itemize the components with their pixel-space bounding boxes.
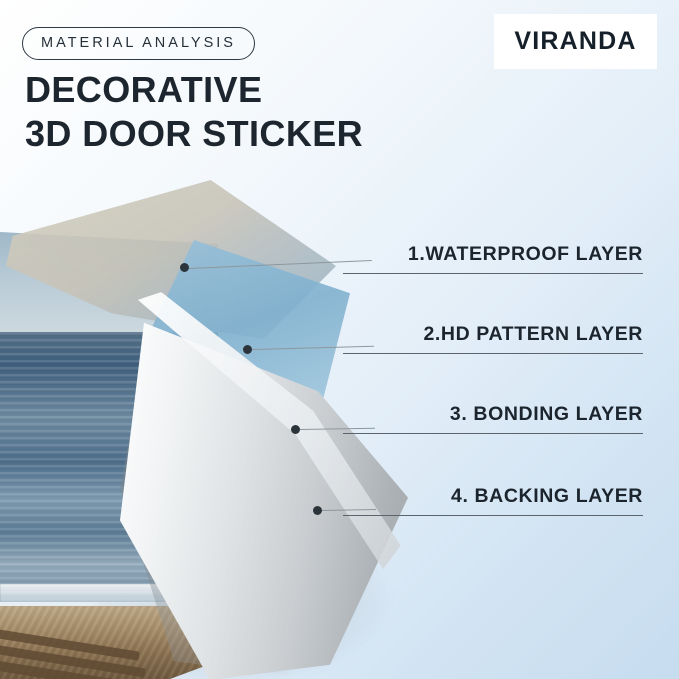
poster-canvas: MATERIAL ANALYSIS DECORATIVE 3D DOOR STI… (0, 0, 679, 679)
callout-dot-1 (180, 263, 189, 272)
callout-label-3: 3. BONDING LAYER (343, 403, 643, 434)
callout-label-2: 2.HD PATTERN LAYER (343, 323, 643, 354)
callout-dot-2 (243, 345, 252, 354)
callout-label-1: 1.WATERPROOF LAYER (343, 243, 643, 274)
eyebrow-badge: MATERIAL ANALYSIS (22, 27, 255, 60)
callout-dot-3 (291, 425, 300, 434)
brand-logo-box: VIRANDA (494, 14, 657, 69)
page-title: DECORATIVE 3D DOOR STICKER (25, 68, 363, 156)
page-title-line-2: 3D DOOR STICKER (25, 112, 363, 156)
page-title-line-1: DECORATIVE (25, 69, 262, 110)
callout-dot-4 (313, 506, 322, 515)
brand-name: VIRANDA (514, 27, 636, 56)
callout-label-4: 4. BACKING LAYER (343, 485, 643, 516)
